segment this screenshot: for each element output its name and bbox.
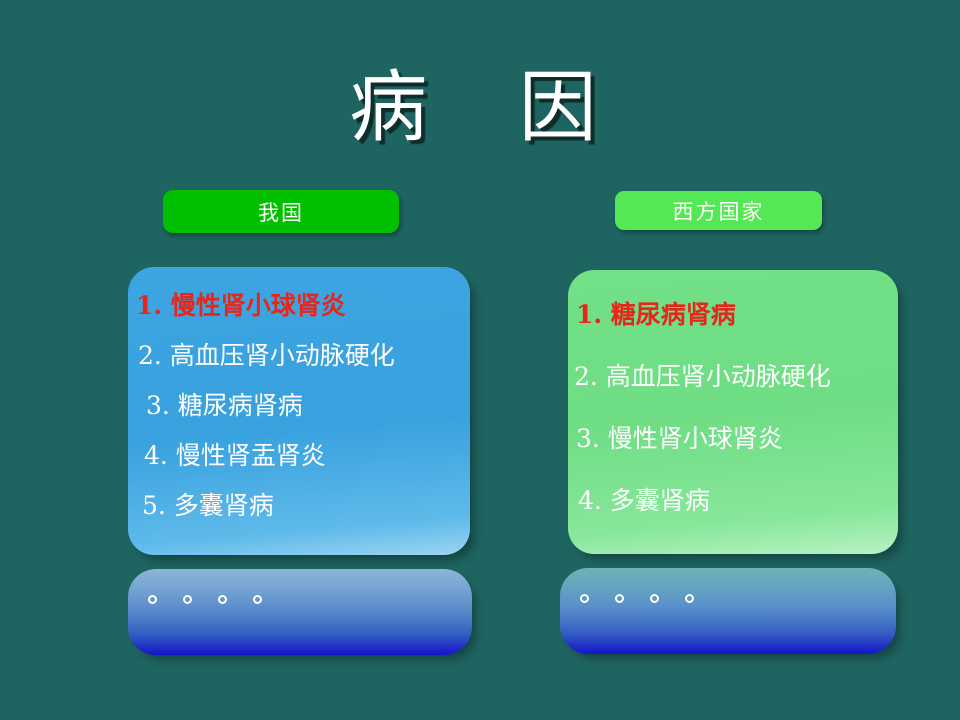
list-item: 1. 糖尿病肾病	[568, 284, 898, 346]
header-pill-western-label: 西方国家	[673, 196, 765, 226]
list-panel-domestic: 1. 慢性肾小球肾炎 2. 高血压肾小动脉硬化 3. 糖尿病肾病 4. 慢性肾盂…	[128, 267, 470, 555]
bullet-icon	[253, 595, 262, 604]
list-item: 2. 高血压肾小动脉硬化	[128, 331, 470, 381]
bullet-row-western	[580, 594, 694, 603]
list-panel-western: 1. 糖尿病肾病 2. 高血压肾小动脉硬化 3. 慢性肾小球肾炎 4. 多囊肾病	[568, 270, 898, 554]
header-pill-domestic[interactable]: 我国	[163, 190, 399, 233]
page-title: 病 因	[0, 58, 960, 158]
list-item: 4. 慢性肾盂肾炎	[128, 431, 470, 481]
bullet-icon	[685, 594, 694, 603]
bullet-icon	[148, 595, 157, 604]
list-item: 2. 高血压肾小动脉硬化	[568, 346, 898, 408]
bullet-icon	[650, 594, 659, 603]
list-item: 1. 慢性肾小球肾炎	[128, 281, 470, 331]
bottom-bar-western	[560, 568, 896, 654]
header-pill-domestic-label: 我国	[258, 197, 304, 227]
bullet-row-domestic	[148, 595, 262, 604]
list-item: 3. 慢性肾小球肾炎	[568, 408, 898, 470]
bullet-icon	[183, 595, 192, 604]
list-item: 4. 多囊肾病	[568, 470, 898, 532]
list-item: 5. 多囊肾病	[128, 481, 470, 531]
bullet-icon	[615, 594, 624, 603]
bullet-icon	[218, 595, 227, 604]
list-item: 3. 糖尿病肾病	[128, 381, 470, 431]
slide-canvas: 病 因 我国 西方国家 1. 慢性肾小球肾炎 2. 高血压肾小动脉硬化 3. 糖…	[0, 0, 960, 720]
bottom-bar-domestic	[128, 569, 472, 655]
header-pill-western[interactable]: 西方国家	[615, 191, 822, 230]
bullet-icon	[580, 594, 589, 603]
